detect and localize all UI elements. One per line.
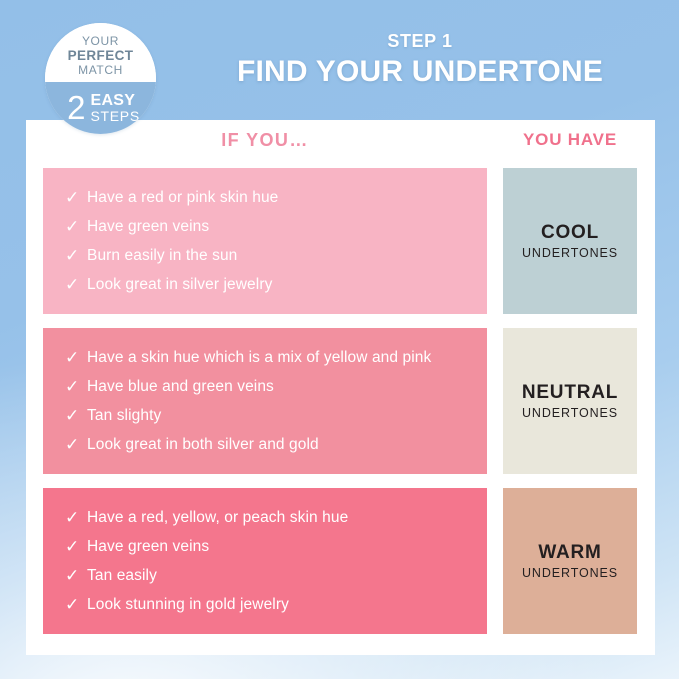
check-icon: ✓ [65, 187, 87, 209]
badge-match-label: MATCH [78, 63, 123, 77]
badge-easy-label: EASY [90, 93, 135, 109]
check-icon: ✓ [65, 216, 87, 238]
step-label: STEP 1 [200, 30, 640, 52]
criteria-text: Have a red or pink skin hue [87, 187, 278, 208]
list-item: ✓ Have blue and green veins [65, 376, 473, 398]
undertone-swatch-warm: WARM UNDERTONES [503, 488, 637, 634]
badge-perfect-label: PERFECT [68, 48, 134, 63]
badge-your-label: YOUR [82, 35, 119, 48]
criteria-text: Tan easily [87, 565, 157, 586]
undertone-name: COOL [541, 222, 599, 244]
list-item: ✓ Burn easily in the sun [65, 245, 473, 267]
table-column-headers: IF YOU… YOU HAVE [26, 130, 655, 160]
column-header-result: YOU HAVE [503, 130, 637, 150]
criteria-text: Have green veins [87, 216, 209, 237]
list-item: ✓ Look great in silver jewelry [65, 274, 473, 296]
criteria-block-warm: ✓ Have a red, yellow, or peach skin hue … [43, 488, 487, 634]
table-row: ✓ Have a red, yellow, or peach skin hue … [26, 488, 655, 634]
table-row: ✓ Have a red or pink skin hue ✓ Have gre… [26, 168, 655, 314]
criteria-text: Look great in silver jewelry [87, 274, 272, 295]
undertone-name: WARM [538, 542, 601, 564]
check-icon: ✓ [65, 274, 87, 296]
list-item: ✓ Tan slighty [65, 405, 473, 427]
undertone-label: UNDERTONES [522, 245, 618, 261]
table-row: ✓ Have a skin hue which is a mix of yell… [26, 328, 655, 474]
check-icon: ✓ [65, 245, 87, 267]
undertone-swatch-cool: COOL UNDERTONES [503, 168, 637, 314]
badge-top-half: YOUR PERFECT MATCH [45, 23, 156, 82]
criteria-block-cool: ✓ Have a red or pink skin hue ✓ Have gre… [43, 168, 487, 314]
criteria-text: Have blue and green veins [87, 376, 274, 397]
page-header: STEP 1 FIND YOUR UNDERTONE [200, 30, 640, 90]
page-title: FIND YOUR UNDERTONE [200, 54, 640, 90]
list-item: ✓ Look stunning in gold jewelry [65, 594, 473, 616]
check-icon: ✓ [65, 376, 87, 398]
criteria-text: Have a skin hue which is a mix of yellow… [87, 347, 431, 368]
criteria-text: Tan slighty [87, 405, 161, 426]
badge-easy-steps-group: EASY STEPS [90, 93, 139, 124]
check-icon: ✓ [65, 507, 87, 529]
check-icon: ✓ [65, 434, 87, 456]
list-item: ✓ Have a red, yellow, or peach skin hue [65, 507, 473, 529]
list-item: ✓ Look great in both silver and gold [65, 434, 473, 456]
check-icon: ✓ [65, 594, 87, 616]
undertone-label: UNDERTONES [522, 565, 618, 581]
list-item: ✓ Have green veins [65, 216, 473, 238]
check-icon: ✓ [65, 565, 87, 587]
criteria-text: Look great in both silver and gold [87, 434, 319, 455]
list-item: ✓ Have a red or pink skin hue [65, 187, 473, 209]
undertone-name: NEUTRAL [522, 382, 618, 404]
badge-steps-label: STEPS [90, 109, 139, 124]
criteria-text: Have a red, yellow, or peach skin hue [87, 507, 348, 528]
undertone-label: UNDERTONES [522, 405, 618, 421]
criteria-text: Have green veins [87, 536, 209, 557]
check-icon: ✓ [65, 405, 87, 427]
check-icon: ✓ [65, 347, 87, 369]
check-icon: ✓ [65, 536, 87, 558]
badge-step-count: 2 [67, 93, 85, 123]
criteria-text: Look stunning in gold jewelry [87, 594, 289, 615]
criteria-text: Burn easily in the sun [87, 245, 237, 266]
undertone-table-card: IF YOU… YOU HAVE ✓ Have a red or pink sk… [26, 120, 655, 655]
list-item: ✓ Have green veins [65, 536, 473, 558]
list-item: ✓ Tan easily [65, 565, 473, 587]
badge-bottom-half: 2 EASY STEPS [45, 82, 156, 134]
list-item: ✓ Have a skin hue which is a mix of yell… [65, 347, 473, 369]
undertone-swatch-neutral: NEUTRAL UNDERTONES [503, 328, 637, 474]
perfect-match-badge: YOUR PERFECT MATCH 2 EASY STEPS [45, 23, 156, 134]
criteria-block-neutral: ✓ Have a skin hue which is a mix of yell… [43, 328, 487, 474]
